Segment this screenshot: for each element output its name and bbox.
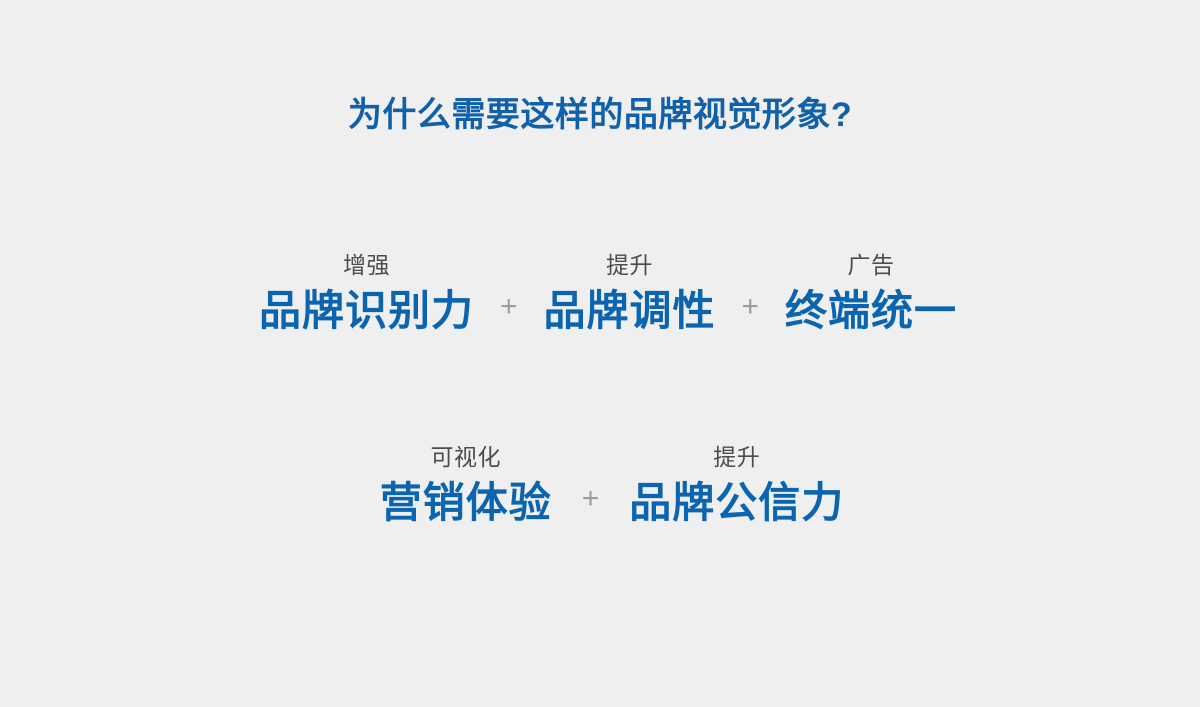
- benefit-item-label: 提升: [606, 250, 653, 280]
- benefit-item-terminal-unification: 广告 终端统一: [785, 250, 957, 339]
- benefit-item-brand-tonality: 提升 品牌调性: [543, 250, 715, 339]
- benefit-row-1: 增强 品牌识别力 + 提升 品牌调性 + 广告 终端统一: [0, 250, 1200, 339]
- plus-separator-icon: +: [716, 279, 786, 335]
- benefit-item-brand-recognition: 增强 品牌识别力: [259, 250, 474, 339]
- slide-canvas: 为什么需要这样的品牌视觉形象? 增强 品牌识别力 + 提升 品牌调性 + 广告 …: [0, 0, 1200, 707]
- plus-separator-icon: +: [552, 471, 630, 527]
- benefit-item-label: 提升: [713, 442, 760, 472]
- benefit-item-title: 品牌识别力: [259, 283, 474, 339]
- benefit-item-label: 可视化: [430, 442, 501, 472]
- benefit-groups: 增强 品牌识别力 + 提升 品牌调性 + 广告 终端统一 可视化 营销体验 + …: [0, 250, 1200, 531]
- plus-separator-icon: +: [474, 279, 544, 335]
- benefit-item-label: 广告: [848, 250, 895, 280]
- page-title: 为什么需要这样的品牌视觉形象?: [0, 92, 1200, 138]
- benefit-item-title: 营销体验: [380, 475, 552, 531]
- benefit-item-marketing-experience: 可视化 营销体验: [380, 442, 552, 531]
- benefit-item-title: 品牌调性: [543, 283, 715, 339]
- benefit-item-brand-credibility: 提升 品牌公信力: [629, 442, 844, 531]
- benefit-item-title: 品牌公信力: [629, 475, 844, 531]
- benefit-item-title: 终端统一: [785, 283, 957, 339]
- benefit-item-label: 增强: [343, 250, 390, 280]
- benefit-row-2: 可视化 营销体验 + 提升 品牌公信力: [0, 442, 1200, 531]
